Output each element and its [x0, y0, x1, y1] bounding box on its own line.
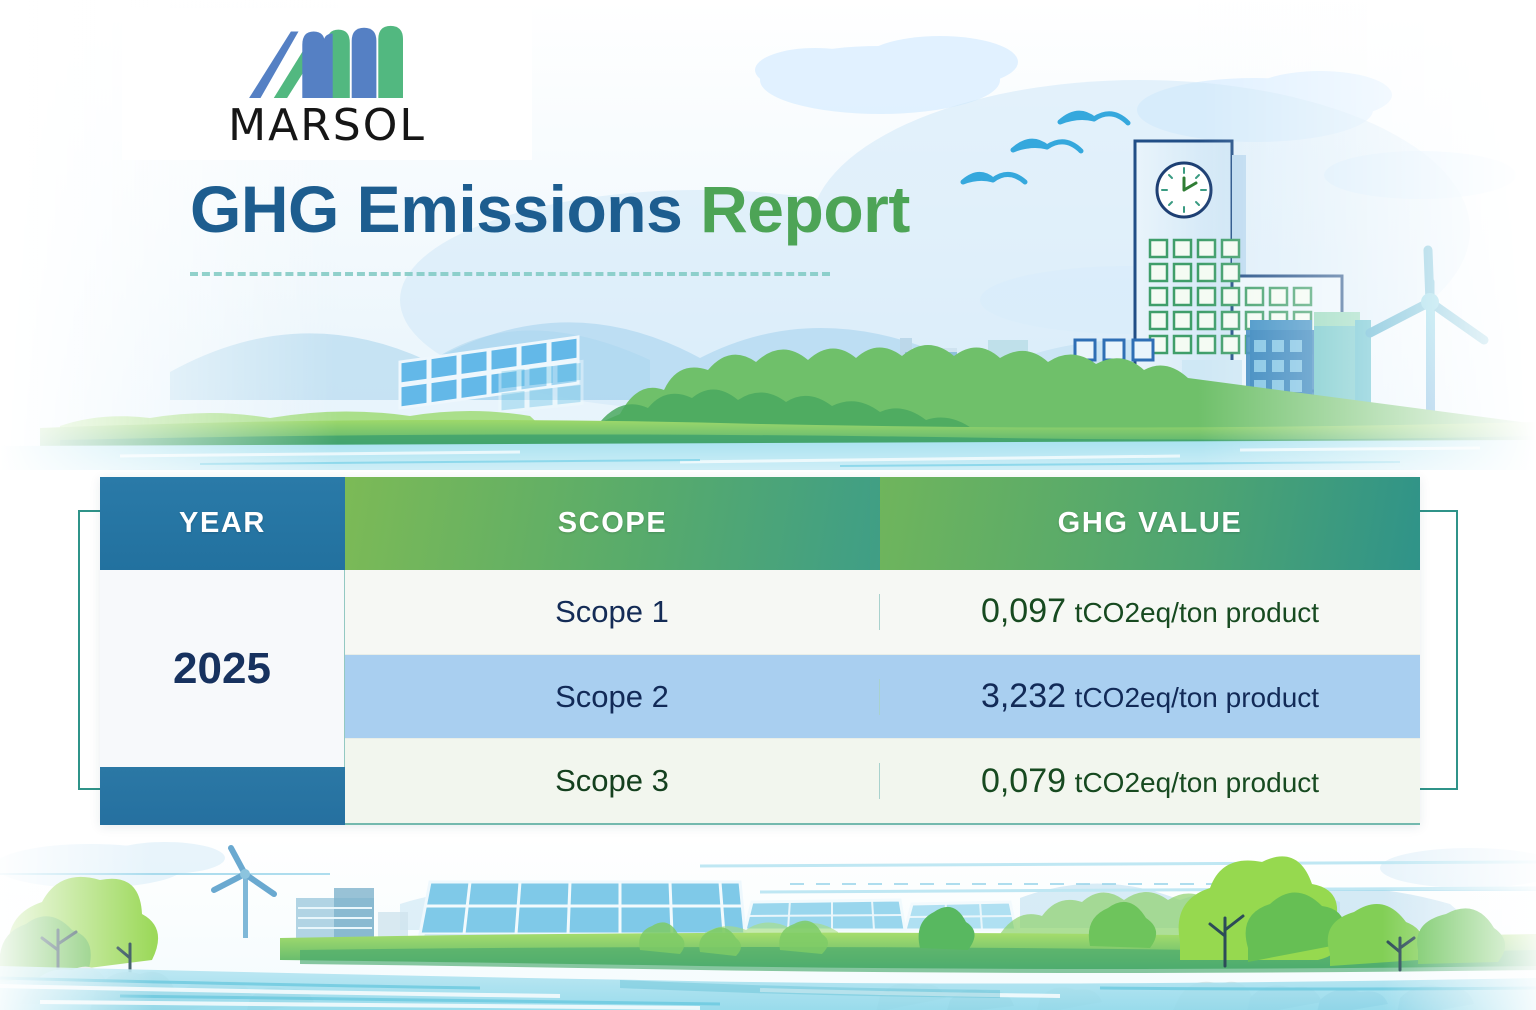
- page-title: GHG Emissions Report: [190, 175, 910, 244]
- title-block: GHG Emissions Report: [190, 175, 910, 276]
- ghg-unit: tCO2eq/ton product: [1075, 767, 1319, 798]
- ghg-unit: tCO2eq/ton product: [1075, 682, 1319, 713]
- scope-label: Scope 1: [345, 594, 880, 630]
- ghg-number: 0,097: [981, 592, 1066, 630]
- brand-logo: MARSOL: [122, 8, 532, 160]
- page-title-main: GHG Emissions: [190, 172, 700, 246]
- column-header-ghg-value: GHG VALUE: [880, 477, 1420, 570]
- scope-label: Scope 2: [345, 679, 880, 715]
- column-header-year: YEAR: [100, 477, 345, 570]
- table-row: Scope 1 0,097 tCO2eq/ton product: [345, 570, 1420, 654]
- marsol-mountain-mark-icon: [232, 20, 422, 102]
- year-value: 2025: [173, 644, 271, 694]
- ghg-number: 3,232: [981, 677, 1066, 715]
- year-column: YEAR 2025: [100, 477, 345, 825]
- ghg-emissions-table: YEAR 2025 SCOPE GHG VALUE Scope 1 0,097 …: [100, 477, 1420, 825]
- report-canvas: MARSOL GHG Emissions Report YEAR 2025 SC…: [0, 0, 1536, 1010]
- page-title-accent: Report: [700, 172, 910, 246]
- bottom-illustration-svg: [0, 838, 1536, 1010]
- brand-logo-wordmark: MARSOL: [228, 104, 426, 148]
- table-row: Scope 2 3,232 tCO2eq/ton product: [345, 654, 1420, 740]
- ghg-value-cell: 3,232 tCO2eq/ton product: [880, 677, 1420, 716]
- year-cell: 2025: [100, 570, 345, 767]
- bottom-illustration: [0, 838, 1536, 1010]
- column-header-scope: SCOPE: [345, 477, 880, 570]
- title-divider: [190, 272, 830, 276]
- ghg-unit: tCO2eq/ton product: [1075, 597, 1319, 628]
- ghg-value-cell: 0,097 tCO2eq/ton product: [880, 592, 1420, 631]
- scope-label: Scope 3: [345, 763, 880, 799]
- table-header-row: SCOPE GHG VALUE: [345, 477, 1420, 570]
- table-row: Scope 3 0,079 tCO2eq/ton product: [345, 739, 1420, 825]
- ghg-number: 0,079: [981, 762, 1066, 800]
- year-column-footer-bar: [100, 767, 345, 825]
- ghg-value-cell: 0,079 tCO2eq/ton product: [880, 762, 1420, 801]
- data-columns: SCOPE GHG VALUE Scope 1 0,097 tCO2eq/ton…: [345, 477, 1420, 825]
